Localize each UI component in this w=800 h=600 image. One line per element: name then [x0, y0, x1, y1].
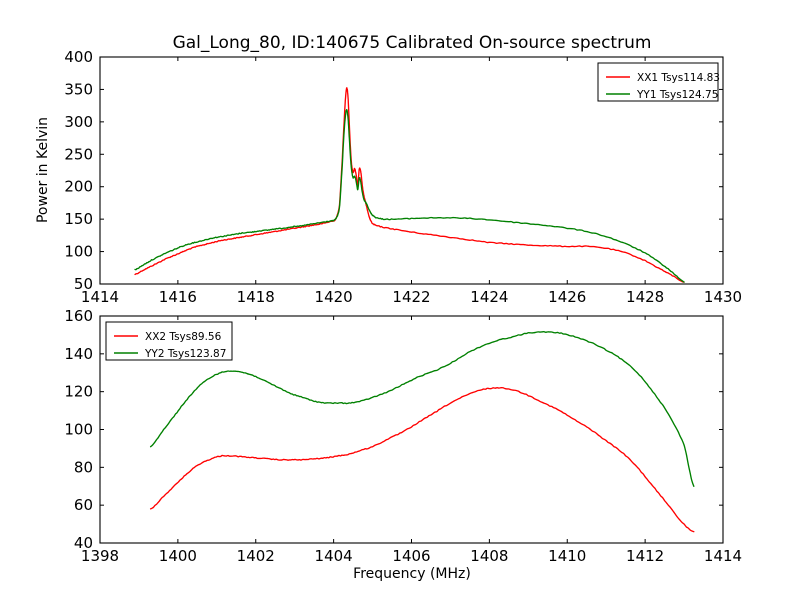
x-tick-label: 1400 [159, 547, 197, 565]
x-tick-label: 1422 [392, 288, 430, 306]
x-tick-label: 1408 [470, 547, 508, 565]
bottom-panel-x-axis-label: Frequency (MHz) [353, 566, 471, 582]
y-tick-label: 200 [64, 178, 93, 196]
x-tick-label: 1416 [159, 288, 197, 306]
y-tick-label: 80 [74, 458, 93, 476]
x-tick-label: 1406 [392, 547, 430, 565]
x-tick-label: 1426 [548, 288, 586, 306]
bottom-panel-data-lines [151, 332, 694, 532]
y-tick-label: 300 [64, 113, 93, 131]
x-tick-label: 1430 [704, 288, 742, 306]
bottom-panel-legend[interactable]: XX2 Tsys89.56YY2 Tsys123.87 [106, 322, 232, 360]
y-tick-label: 100 [64, 243, 93, 261]
top-panel-y-axis-label: Power in Kelvin [35, 117, 51, 223]
data-line-xx [135, 88, 684, 282]
y-tick-label: 100 [64, 421, 93, 439]
x-tick-label: 1424 [470, 288, 508, 306]
y-tick-label: 60 [74, 496, 93, 514]
x-tick-label: 1402 [237, 547, 275, 565]
legend-label: XX2 Tsys89.56 [145, 331, 222, 343]
y-tick-label: 150 [64, 210, 93, 228]
figure-canvas: Gal_Long_80, ID:140675 Calibrated On-sou… [0, 0, 800, 600]
y-tick-label: 160 [64, 307, 93, 325]
y-tick-label: 120 [64, 383, 93, 401]
legend-label: YY2 Tsys123.87 [144, 348, 226, 360]
x-tick-label: 1412 [626, 547, 664, 565]
spectrum-figure: Gal_Long_80, ID:140675 Calibrated On-sou… [0, 0, 800, 600]
top-panel: 1414141614181420142214241426142814305010… [35, 48, 742, 306]
x-tick-label: 1428 [626, 288, 664, 306]
bottom-panel: 1398140014021404140614081410141214144060… [64, 307, 742, 582]
x-tick-label: 1410 [548, 547, 586, 565]
top-panel-data-lines [135, 88, 684, 282]
top-panel-legend[interactable]: XX1 Tsys114.83YY1 Tsys124.75 [598, 63, 720, 101]
x-tick-label: 1420 [315, 288, 353, 306]
y-tick-label: 400 [64, 48, 93, 66]
legend-label: YY1 Tsys124.75 [636, 89, 718, 101]
x-tick-label: 1414 [704, 547, 742, 565]
data-line-xx [151, 388, 694, 532]
x-tick-label: 1418 [237, 288, 275, 306]
x-tick-label: 1404 [315, 547, 353, 565]
figure-title: Gal_Long_80, ID:140675 Calibrated On-sou… [173, 33, 652, 53]
y-tick-label: 140 [64, 345, 93, 363]
y-tick-label: 350 [64, 80, 93, 98]
y-tick-label: 250 [64, 145, 93, 163]
y-tick-label: 40 [74, 534, 93, 552]
legend-label: XX1 Tsys114.83 [637, 72, 720, 84]
data-line-yy [135, 110, 684, 282]
y-tick-label: 50 [74, 275, 93, 293]
